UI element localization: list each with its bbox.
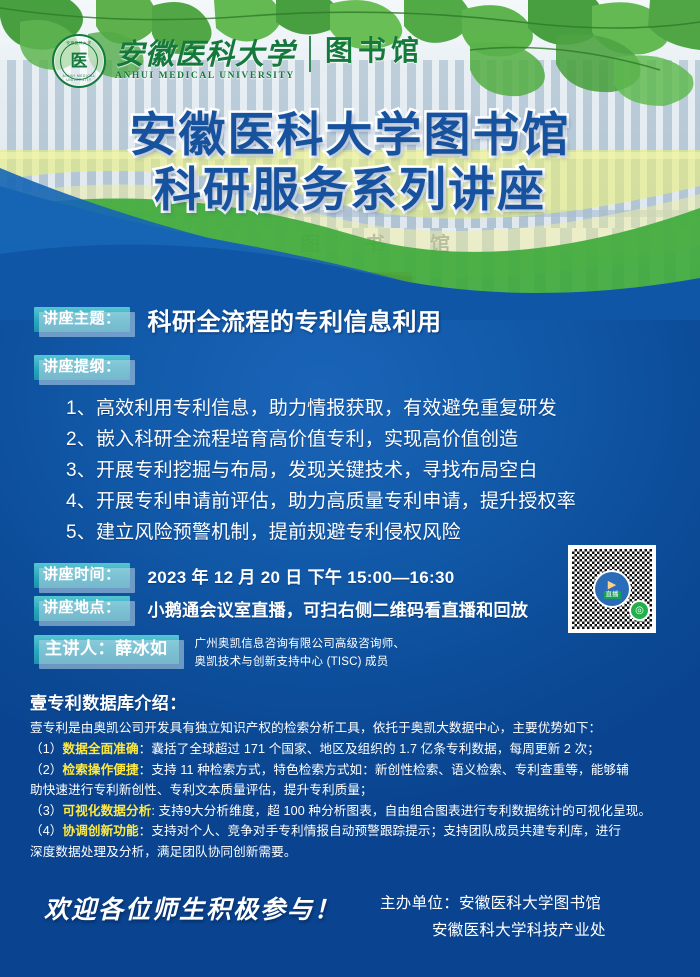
university-logo-header: 安徽医科大学 医 ANHUI MEDICAL UNIVERSITY 安徽医科大学… (52, 34, 424, 88)
title-line-1: 安徽医科大学图书馆 (0, 108, 700, 163)
database-point-highlight: 可视化数据分析 (63, 804, 152, 818)
database-point-text: ：囊括了全球超过 171 个国家、地区及组织的 1.7 亿条专利数据，每周更新 … (139, 742, 600, 756)
time-value: 2023 年 12 月 20 日 下午 15:00—16:30 (148, 563, 455, 588)
outline-item: 3、开展专利挖掘与布局，发现关键技术，寻找布局空白 (66, 456, 700, 487)
place-label: 讲座地点： (34, 596, 130, 621)
database-point-prefix: （2） (30, 763, 63, 777)
database-point-highlight: 协调创新功能 (63, 824, 139, 838)
database-point: （1）数据全面准确：囊括了全球超过 171 个国家、地区及组织的 1.7 亿条专… (30, 740, 670, 760)
university-name-block: 安徽医科大学 ANHUI MEDICAL UNIVERSITY (115, 41, 295, 81)
play-icon: ▶ (608, 580, 616, 591)
topic-row: 讲座主题： 科研全流程的专利信息利用 (34, 302, 700, 337)
speaker-bio-line-1: 广州奥凯信息咨询有限公司高级咨询师、 (195, 638, 406, 650)
seal-arc-bottom: ANHUI MEDICAL UNIVERSITY (54, 74, 104, 82)
database-point-text: ：支持 11 种检索方式，特色检索方式如：新创性检索、语义检索、专利查重等，能够… (139, 763, 629, 777)
university-name-cn: 安徽医科大学 (115, 41, 295, 70)
database-intro-block: 壹专利数据库介绍： 壹专利是由奥凯公司开发具有独立知识产权的检索分析工具，依托于… (30, 689, 670, 862)
organizer-line-1: 主办单位：安徽医科大学图书馆 (380, 890, 606, 917)
outline-list: 1、高效利用专利信息，助力情报获取，有效避免重复研发 2、嵌入科研全流程培育高价… (26, 394, 700, 549)
outline-label: 讲座提纲： (34, 355, 130, 380)
qr-matrix: ▶ 直播 ◎ (572, 549, 652, 629)
logo-divider (309, 36, 311, 72)
database-point-text: : 支持9大分析维度，超 100 种分析图表，自由组合图表进行专利数据统计的可视… (151, 804, 651, 818)
university-seal-icon: 安徽医科大学 医 ANHUI MEDICAL UNIVERSITY (52, 34, 106, 88)
topic-value: 科研全流程的专利信息利用 (148, 302, 442, 337)
organizer-block: 主办单位：安徽医科大学图书馆 安徽医科大学科技产业处 (380, 890, 606, 944)
university-name-en: ANHUI MEDICAL UNIVERSITY (115, 71, 295, 81)
speaker-bio-line-2: 奥凯技术与创新支持中心 (TISC) 成员 (195, 656, 389, 668)
database-point: （4）协调创新功能：支持对个人、竞争对手专利情报自动预警跟踪提示；支持团队成员共… (30, 822, 670, 842)
time-label: 讲座时间： (34, 563, 130, 588)
database-point-highlight: 检索操作便捷 (63, 763, 139, 777)
livestream-qr-code[interactable]: ▶ 直播 ◎ (568, 545, 656, 633)
database-point-text: ：支持对个人、竞争对手专利情报自动预警跟踪提示；支持团队成员共建专利库，进行 (139, 824, 621, 838)
outline-item: 1、高效利用专利信息，助力情报获取，有效避免重复研发 (66, 394, 700, 425)
database-point: （2）检索操作便捷：支持 11 种检索方式，特色检索方式如：新创性检索、语义检索… (30, 761, 670, 781)
qr-center-logo: ▶ 直播 (595, 572, 629, 606)
database-intro-title: 壹专利数据库介绍： (30, 689, 670, 714)
database-point: （3）可视化数据分析: 支持9大分析维度，超 100 种分析图表，自由组合图表进… (30, 802, 670, 822)
qr-center-label: 直播 (604, 591, 621, 599)
speaker-label: 主讲人：薛冰如 (34, 635, 179, 664)
welcome-message: 欢迎各位师生积极参与！ (44, 890, 341, 926)
database-point-prefix: （4） (30, 824, 63, 838)
database-point-prefix: （3） (30, 804, 63, 818)
database-point-prefix: （1） (30, 742, 63, 756)
poster-main-title: 安徽医科大学图书馆 科研服务系列讲座 (0, 108, 700, 219)
wechat-miniprogram-icon: ◎ (631, 602, 648, 619)
seal-arc-top: 安徽医科大学 (54, 41, 104, 46)
speaker-bio: 广州奥凯信息咨询有限公司高级咨询师、 奥凯技术与创新支持中心 (TISC) 成员 (195, 635, 406, 672)
poster-root: 图 书 馆 聚心拥护 "两个确立" 奋力 (0, 0, 700, 977)
database-point-continuation: 助快速进行专利新创性、专利文本质量评估，提升专利质量； (30, 781, 670, 801)
seal-center-glyph: 医 (54, 53, 104, 70)
outline-row: 讲座提纲： (34, 355, 700, 380)
database-point-highlight: 数据全面准确 (63, 742, 139, 756)
topic-label: 讲座主题： (34, 307, 130, 332)
place-value: 小鹅通会议室直播，可扫右侧二维码看直播和回放 (148, 596, 529, 621)
speaker-row: 主讲人：薛冰如 广州奥凯信息咨询有限公司高级咨询师、 奥凯技术与创新支持中心 (… (34, 635, 700, 672)
database-intro-text: 壹专利是由奥凯公司开发具有独立知识产权的检索分析工具，依托于奥凯大数据中心，主要… (30, 719, 670, 739)
library-name-cn: 图书馆 (325, 38, 424, 66)
outline-item: 2、嵌入科研全流程培育高价值专利，实现高价值创造 (66, 425, 700, 456)
title-line-2: 科研服务系列讲座 (0, 163, 700, 218)
database-point-continuation: 深度数据处理及分析，满足团队协同创新需要。 (30, 843, 670, 863)
organizer-line-2: 安徽医科大学科技产业处 (432, 917, 606, 944)
outline-item: 4、开展专利申请前评估，助力高质量专利申请，提升授权率 (66, 487, 700, 518)
